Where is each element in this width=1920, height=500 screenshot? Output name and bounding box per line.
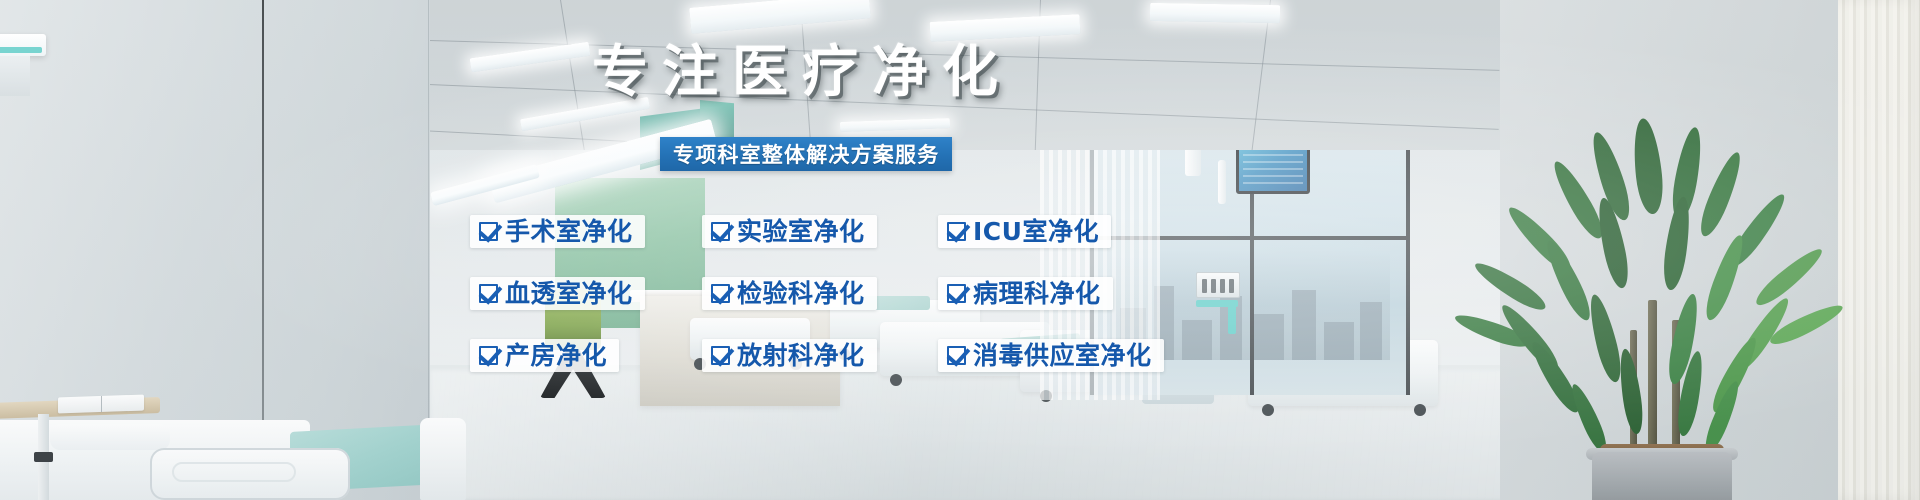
feature-item-icu[interactable]: ICU室净化: [938, 215, 1111, 248]
feature-label: 放射科净化: [737, 343, 865, 368]
feature-item-operating-room[interactable]: 手术室净化: [470, 215, 645, 248]
feature-item-laboratory[interactable]: 实验室净化: [702, 215, 877, 248]
medical-purification-banner: 专注医疗净化 专项科室整体解决方案服务 手术室净化 实验室净化 ICU室净化 血…: [0, 0, 1920, 500]
feature-item-radiology[interactable]: 放射科净化: [702, 339, 877, 372]
feature-item-pathology[interactable]: 病理科净化: [938, 277, 1113, 310]
feature-label: 血透室净化: [505, 281, 633, 306]
checkbox-checked-icon: [711, 346, 730, 365]
feature-item-clinical-testing[interactable]: 检验科净化: [702, 277, 877, 310]
feature-list: 手术室净化 实验室净化 ICU室净化 血透室净化 检验科净化 病理科净化: [470, 200, 1230, 386]
checkbox-checked-icon: [947, 346, 966, 365]
feature-label: 消毒供应室净化: [973, 343, 1152, 368]
checkbox-checked-icon: [711, 222, 730, 241]
banner-content: 专注医疗净化 专项科室整体解决方案服务 手术室净化 实验室净化 ICU室净化 血…: [0, 0, 1920, 500]
checkbox-checked-icon: [479, 284, 498, 303]
checkbox-checked-icon: [479, 346, 498, 365]
feature-label: 手术室净化: [505, 219, 633, 244]
checkbox-checked-icon: [479, 222, 498, 241]
checkbox-checked-icon: [947, 222, 966, 241]
feature-item-hemodialysis[interactable]: 血透室净化: [470, 277, 645, 310]
banner-subtitle-bar: 专项科室整体解决方案服务: [660, 137, 952, 171]
checkbox-checked-icon: [947, 284, 966, 303]
banner-headline: 专注医疗净化: [592, 42, 1012, 104]
feature-item-delivery-room[interactable]: 产房净化: [470, 339, 619, 372]
feature-label: 检验科净化: [737, 281, 865, 306]
feature-label: 实验室净化: [737, 219, 865, 244]
feature-label: 病理科净化: [973, 281, 1101, 306]
feature-label: 产房净化: [505, 343, 607, 368]
checkbox-checked-icon: [711, 284, 730, 303]
feature-label: ICU室净化: [973, 219, 1099, 244]
banner-subtitle-text: 专项科室整体解决方案服务: [673, 139, 939, 169]
feature-item-cssd[interactable]: 消毒供应室净化: [938, 339, 1164, 372]
